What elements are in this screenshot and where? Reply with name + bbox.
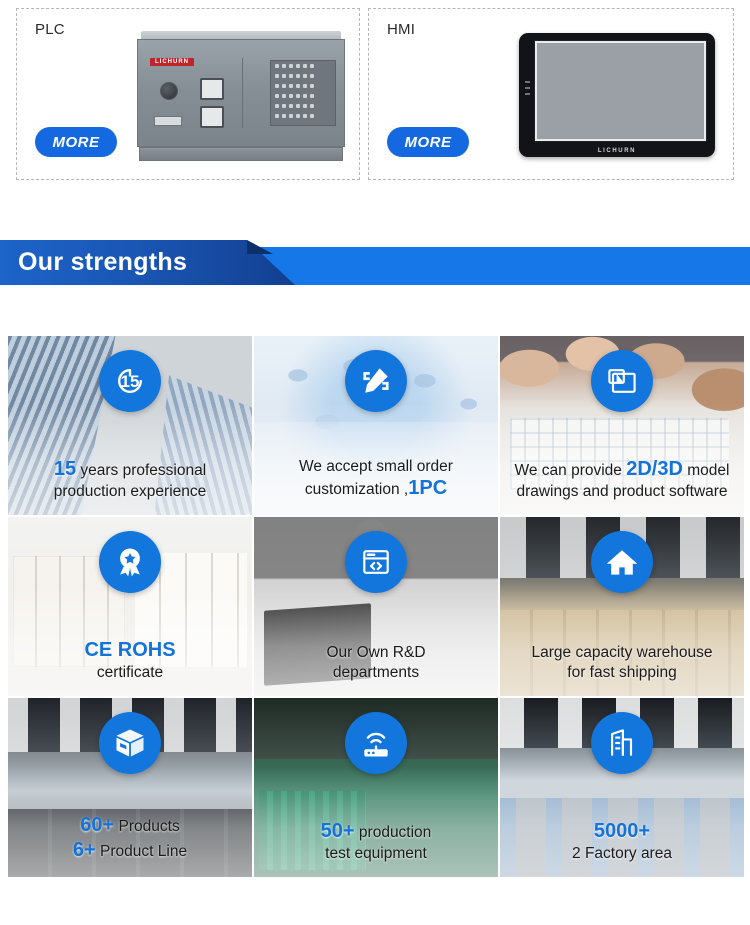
caption-line: 2 Factory area (506, 844, 738, 863)
caption-highlight: 50+ (321, 820, 355, 842)
more-button-plc[interactable]: MORE (35, 127, 117, 157)
code-window-icon (345, 531, 407, 593)
plc-body: LICHURN (137, 39, 345, 147)
caption-text: Large capacity warehouse (532, 644, 713, 661)
hmi-device-image: LICHURN (519, 33, 715, 157)
strength-caption: Our Own R&Ddepartments (260, 643, 492, 682)
badge-number: 15 (121, 373, 140, 390)
strength-cell[interactable]: We accept small ordercustomization ,1PC (254, 336, 498, 515)
home-icon (591, 531, 653, 593)
caption-line: 15 years professional (14, 457, 246, 482)
strength-cell[interactable]: We can provide 2D/3D modeldrawings and p… (500, 336, 744, 515)
package-box-icon (99, 712, 161, 774)
caption-line: test equipment (260, 844, 492, 863)
caption-line: 60+ Products (14, 813, 246, 838)
strengths-grid: 1515 years professionalproduction experi… (8, 336, 744, 877)
strength-cell[interactable]: CE ROHScertificate (8, 517, 252, 696)
plc-usb-port (154, 116, 182, 126)
hmi-indicator-leds (525, 81, 530, 95)
router-wifi-icon (345, 712, 407, 774)
product-card-plc[interactable]: PLC LICHURN MORE (16, 8, 360, 180)
caption-highlight: 5000+ (594, 820, 650, 842)
caption-text: 2 Factory area (572, 845, 672, 862)
more-button-hmi[interactable]: MORE (387, 127, 469, 157)
caption-highlight: 15 (54, 458, 76, 480)
caption-line: We can provide 2D/3D model (506, 457, 738, 482)
award-medal-icon (99, 531, 161, 593)
caption-text: production (355, 824, 432, 841)
strength-cell[interactable]: 50+ productiontest equipment (254, 698, 498, 877)
caption-highlight: 2D/3D (626, 458, 683, 480)
caption-text: departments (333, 664, 419, 681)
plc-body-divider (242, 58, 243, 128)
strength-caption: CE ROHScertificate (14, 638, 246, 682)
caption-text: years professional (76, 462, 206, 479)
plc-device-image: LICHURN (137, 31, 345, 161)
caption-line: production experience (14, 482, 246, 501)
caption-line: certificate (14, 663, 246, 682)
caption-text: drawings and product software (516, 483, 727, 500)
caption-highlight: 6+ (73, 839, 96, 861)
strength-caption: 5000+2 Factory area (506, 819, 738, 863)
strength-cell[interactable]: 5000+2 Factory area (500, 698, 744, 877)
caption-text: Products (114, 818, 179, 835)
section-banner: Our strengths (0, 240, 750, 285)
drawing-window-icon (591, 350, 653, 412)
strength-caption: We accept small ordercustomization ,1PC (260, 457, 492, 501)
strength-cell[interactable]: Our Own R&Ddepartments (254, 517, 498, 696)
strength-cell[interactable]: Large capacity warehousefor fast shippin… (500, 517, 744, 696)
clock-15-icon: 15 (99, 350, 161, 412)
strength-caption: Large capacity warehousefor fast shippin… (506, 643, 738, 682)
caption-text: certificate (97, 664, 163, 681)
plc-brand-label: LICHURN (150, 58, 194, 66)
caption-text: customization , (305, 481, 408, 498)
section-title: Our strengths (0, 248, 187, 277)
caption-line: We accept small order (260, 457, 492, 476)
caption-highlight: 1PC (408, 477, 447, 499)
caption-line: 5000+ (506, 819, 738, 844)
product-card-title: HMI (387, 21, 415, 38)
caption-line: for fast shipping (506, 663, 738, 682)
caption-text: We accept small order (299, 458, 453, 475)
banner-accent-bar (248, 247, 750, 285)
plc-ethernet-port-1 (200, 78, 224, 100)
caption-text: test equipment (325, 845, 427, 862)
caption-line: Large capacity warehouse (506, 643, 738, 662)
strength-cell[interactable]: 1515 years professionalproduction experi… (8, 336, 252, 515)
strength-caption: 15 years professionalproduction experien… (14, 457, 246, 501)
caption-text: Our Own R&D (326, 644, 425, 661)
caption-text: Product Line (96, 843, 187, 860)
caption-text: for fast shipping (567, 664, 676, 681)
caption-line: 50+ production (260, 819, 492, 844)
caption-text: model (683, 462, 730, 479)
caption-line: customization ,1PC (260, 476, 492, 501)
product-card-title: PLC (35, 21, 65, 38)
strength-caption: We can provide 2D/3D modeldrawings and p… (506, 457, 738, 501)
product-card-hmi[interactable]: HMI LICHURN MORE (368, 8, 734, 180)
hmi-screen (535, 41, 706, 141)
plc-dial-knob (160, 82, 178, 100)
caption-text: We can provide (515, 462, 627, 479)
building-icon (591, 712, 653, 774)
caption-line: CE ROHS (14, 638, 246, 663)
plc-base-rail (139, 147, 343, 161)
caption-line: departments (260, 663, 492, 682)
strength-cell[interactable]: 60+ Products6+ Product Line (8, 698, 252, 877)
plc-ethernet-port-2 (200, 106, 224, 128)
pencil-customize-icon (345, 350, 407, 412)
plc-terminal-panel (270, 60, 336, 126)
caption-highlight: 60+ (80, 814, 114, 836)
product-card-row: PLC LICHURN MORE (0, 0, 750, 180)
caption-line: drawings and product software (506, 482, 738, 501)
hmi-brand-label: LICHURN (519, 148, 715, 154)
caption-highlight: CE ROHS (84, 639, 175, 661)
caption-line: 6+ Product Line (14, 838, 246, 863)
caption-line: Our Own R&D (260, 643, 492, 662)
strength-caption: 60+ Products6+ Product Line (14, 813, 246, 863)
strength-caption: 50+ productiontest equipment (260, 819, 492, 863)
caption-text: production experience (54, 483, 207, 500)
